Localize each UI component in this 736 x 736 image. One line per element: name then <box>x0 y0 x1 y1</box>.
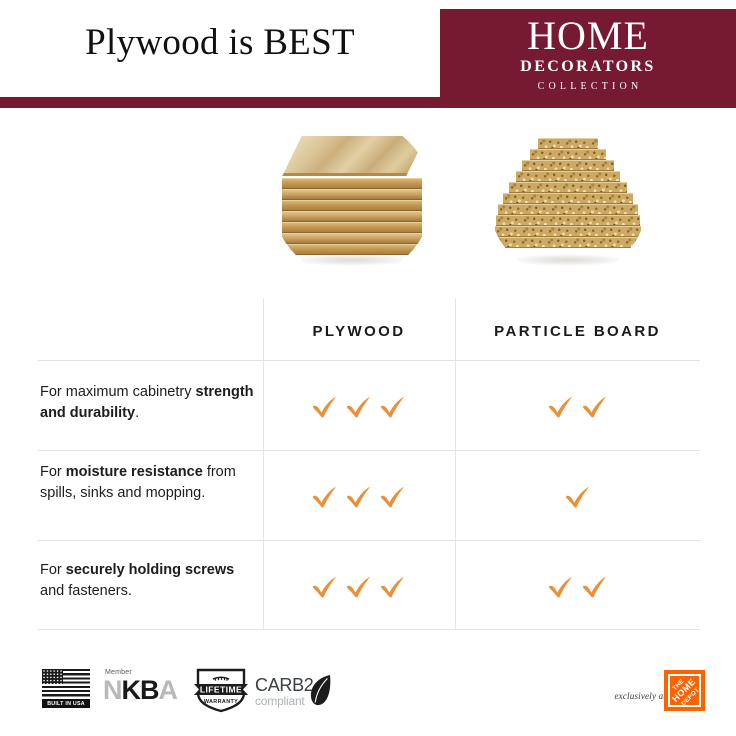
nkba-letter-n: N <box>103 675 122 705</box>
row-label-text-bold: moisture resistance <box>66 464 203 480</box>
checkmark-icon <box>563 481 593 511</box>
particle-board-stack-illustration <box>494 132 642 264</box>
comparison-table: PLYWOOD PARTICLE BOARD For maximum cabin… <box>38 298 700 630</box>
plywood-photo <box>272 118 432 278</box>
checkmark-icon <box>580 571 610 601</box>
checkmark-icon <box>378 391 408 421</box>
usa-flag-icon <box>42 669 90 697</box>
column-header-plywood: PLYWOOD <box>263 320 455 344</box>
row-divider-2 <box>38 540 700 541</box>
shield-icon: LIFETIME WARRANTY <box>192 667 250 713</box>
checkmark-icon <box>546 571 576 601</box>
checkmarks-plywood-row-3 <box>263 564 455 608</box>
infographic-page: Plywood is BEST HOME DECORATORS COLLECTI… <box>0 0 736 736</box>
checkmark-icon <box>378 481 408 511</box>
built-in-usa-caption: BUILT IN USA <box>42 699 90 708</box>
particle-board-photo <box>488 118 648 278</box>
checkmark-icon <box>344 571 374 601</box>
row-divider-bottom <box>38 629 700 630</box>
svg-text:LIFETIME: LIFETIME <box>200 684 242 694</box>
brand-logo-line-collection: COLLECTION <box>534 80 643 94</box>
nkba-letters-kb: KB <box>122 675 159 705</box>
checkmark-icon <box>344 481 374 511</box>
nkba-member-badge: Member NKBA <box>103 669 173 711</box>
nkba-letter-a: A <box>159 675 178 705</box>
carb2-sublabel: compliant <box>255 695 314 708</box>
svg-text:WARRANTY: WARRANTY <box>204 699 238 705</box>
hero-images <box>0 108 736 298</box>
checkmark-icon <box>310 391 340 421</box>
nkba-wordmark: NKBA <box>103 676 173 704</box>
checkmark-icon <box>310 571 340 601</box>
checkmarks-plywood-row-2 <box>263 474 455 518</box>
plywood-stack-illustration <box>276 134 428 262</box>
checkmarks-particle-row-3 <box>455 564 700 608</box>
row-label-screws: For securely holding screws and fastener… <box>40 560 255 602</box>
row-divider-header <box>38 360 700 361</box>
page-title: Plywood is BEST <box>0 20 440 66</box>
checkmark-icon <box>546 391 576 421</box>
footer: BUILT IN USA Member NKBA LIFETIME WARRAN… <box>0 655 736 736</box>
row-label-text-bold: securely holding screws <box>66 562 234 578</box>
brand-logo: HOME DECORATORS COLLECTION <box>440 9 736 99</box>
exclusively-at-label: exclusively at <box>614 691 666 701</box>
carb2-wordmark: CARB2 <box>255 676 314 695</box>
row-label-text-plain-b: . <box>135 405 139 421</box>
leaf-icon <box>309 673 333 707</box>
row-label-text-plain-a: For <box>40 464 66 480</box>
column-header-particle-board: PARTICLE BOARD <box>455 320 700 344</box>
checkmark-icon <box>580 391 610 421</box>
checkmark-icon <box>310 481 340 511</box>
row-label-text-plain-a: For <box>40 562 66 578</box>
brand-logo-line-decorators: DECORATORS <box>520 57 655 77</box>
header: Plywood is BEST HOME DECORATORS COLLECTI… <box>0 0 736 108</box>
carb2-compliant-badge: CARB2 compliant <box>255 671 335 711</box>
row-label-strength: For maximum cabinetry strength and durab… <box>40 382 255 424</box>
lifetime-warranty-badge: LIFETIME WARRANTY <box>192 667 250 713</box>
checkmark-icon <box>378 571 408 601</box>
checkmark-icon <box>344 391 374 421</box>
checkmarks-particle-row-1 <box>455 384 700 428</box>
checkmarks-plywood-row-1 <box>263 384 455 428</box>
row-label-text-plain-a: For maximum cabinetry <box>40 384 196 400</box>
row-label-moisture: For moisture resistance from spills, sin… <box>40 462 255 504</box>
row-divider-1 <box>38 450 700 451</box>
brand-logo-line-home: HOME <box>527 16 649 56</box>
row-label-text-plain-b: and fasteners. <box>40 583 132 599</box>
built-in-usa-badge: BUILT IN USA <box>42 669 90 711</box>
home-depot-logo: THE HOME DEPOT <box>664 670 705 711</box>
checkmarks-particle-row-2 <box>455 474 700 518</box>
